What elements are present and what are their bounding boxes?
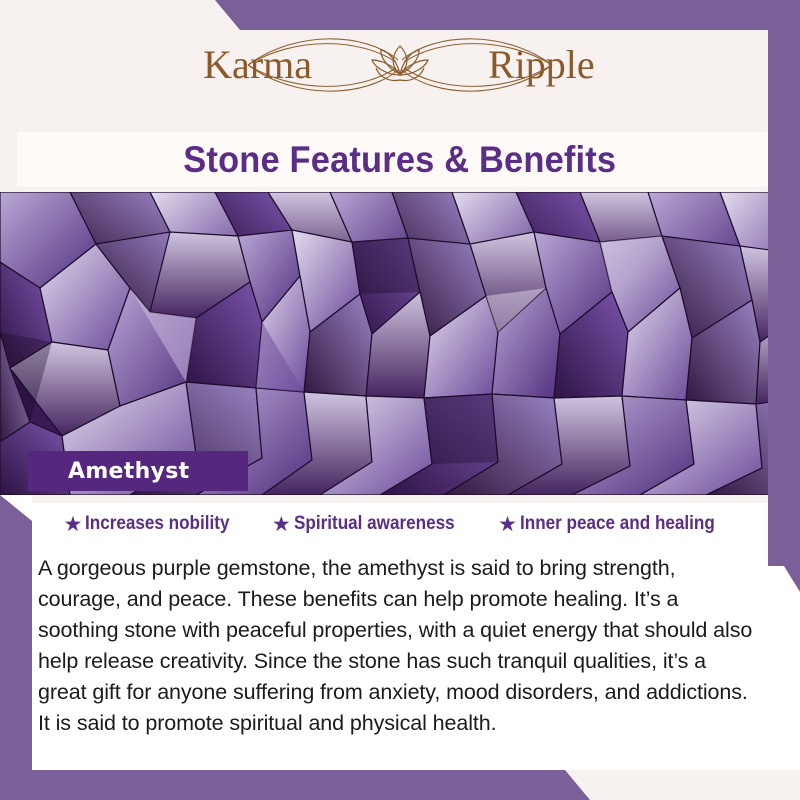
page-title: Stone Features & Benefits <box>184 139 617 181</box>
lotus-flower-icon <box>372 46 428 81</box>
frame-accent-left <box>0 495 32 800</box>
amethyst-crystal-cluster-photo <box>0 192 800 495</box>
benefits-list: ★ Increases nobility ★ Spiritual awarene… <box>32 513 768 535</box>
star-icon: ★ <box>64 514 83 535</box>
star-icon: ★ <box>272 514 291 535</box>
frame-accent-right <box>768 0 800 592</box>
title-inner-band: Stone Features & Benefits <box>17 132 783 187</box>
benefit-label: Inner peace and healing <box>520 513 715 535</box>
logo-artwork: Karma Ripple <box>200 26 600 104</box>
brand-logo: Karma Ripple <box>200 26 600 104</box>
stone-description: A gorgeous purple gemstone, the amethyst… <box>38 553 754 739</box>
content-area: ★ Increases nobility ★ Spiritual awarene… <box>0 495 800 800</box>
stone-name-banner: Amethyst <box>28 451 248 491</box>
content-top-strip <box>32 495 768 503</box>
product-infographic: Karma Ripple Stone Features & Benefits <box>0 0 800 800</box>
benefit-label: Spiritual awareness <box>294 513 455 535</box>
benefit-label: Increases nobility <box>85 513 229 535</box>
benefit-item: ★ Increases nobility <box>64 513 246 535</box>
title-band: Stone Features & Benefits <box>0 125 800 192</box>
stone-name: Amethyst <box>28 459 189 484</box>
benefit-item: ★ Spiritual awareness <box>272 513 472 535</box>
brand-name-left: Karma <box>203 42 312 87</box>
benefit-item: ★ Inner peace and healing <box>498 513 736 535</box>
star-icon: ★ <box>498 514 517 535</box>
stone-photo <box>0 192 800 495</box>
brand-name-right: Ripple <box>488 42 595 87</box>
